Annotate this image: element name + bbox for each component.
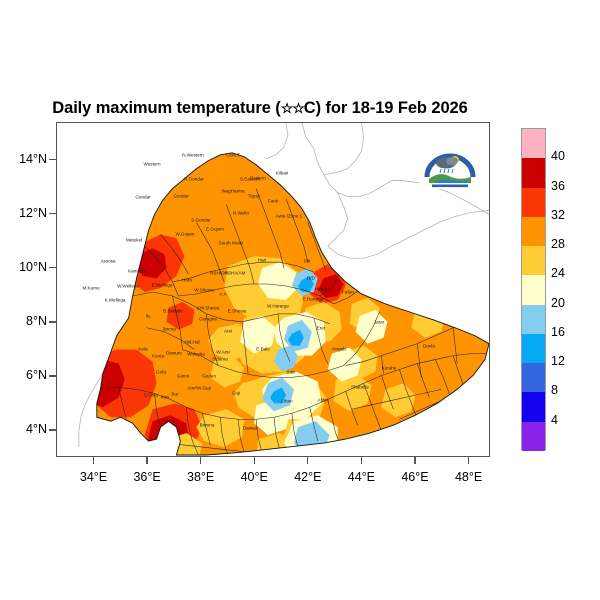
- title-prefix: Daily maximum temperature (: [52, 99, 280, 117]
- colorbar-band: [522, 334, 545, 363]
- colorbar-tick-label: 16: [551, 325, 565, 339]
- colorbar-band: [522, 217, 545, 246]
- y-tick-mark: [49, 267, 56, 268]
- temperature-map-figure: Daily maximum temperature (☆☆C) for 18-1…: [0, 0, 600, 600]
- x-tick-label: 48°E: [439, 470, 499, 484]
- colorbar-band: [522, 129, 545, 158]
- degree-glyph: ☆☆: [281, 100, 304, 116]
- x-tick-label: 44°E: [331, 470, 391, 484]
- y-tick-label: 12°N: [19, 206, 47, 220]
- colorbar-band: [522, 422, 545, 451]
- colorbar-tick-label: 32: [551, 208, 565, 222]
- colorbar-tick-label: 20: [551, 296, 565, 310]
- x-tick-mark: [361, 457, 362, 464]
- y-tick-label: 6°N: [26, 368, 47, 382]
- colorbar-band: [522, 305, 545, 334]
- y-tick-label: 4°N: [26, 422, 47, 436]
- x-tick-label: 38°E: [171, 470, 231, 484]
- colorbar-band: [522, 158, 545, 187]
- colorbar[interactable]: [521, 128, 546, 450]
- colorbar-tick-label: 36: [551, 179, 565, 193]
- x-tick-label: 42°E: [278, 470, 338, 484]
- x-tick-label: 36°E: [117, 470, 177, 484]
- y-tick-mark: [49, 321, 56, 322]
- x-tick-mark: [414, 457, 415, 464]
- x-tick-mark: [254, 457, 255, 464]
- colorbar-band: [522, 275, 545, 304]
- page-title: Daily maximum temperature (☆☆C) for 18-1…: [0, 99, 520, 118]
- x-tick-label: 34°E: [64, 470, 124, 484]
- y-tick-mark: [49, 375, 56, 376]
- x-tick-label: 46°E: [385, 470, 445, 484]
- colorbar-tick-label: 4: [551, 413, 558, 427]
- title-suffix: C) for 18-19 Feb 2026: [304, 99, 468, 117]
- colorbar-band: [522, 188, 545, 217]
- x-tick-mark: [93, 457, 94, 464]
- x-tick-label: 40°E: [224, 470, 284, 484]
- y-tick-mark: [49, 429, 56, 430]
- x-tick-mark: [468, 457, 469, 464]
- y-tick-label: 8°N: [26, 314, 47, 328]
- x-tick-mark: [200, 457, 201, 464]
- colorbar-band: [522, 392, 545, 421]
- colorbar-band: [522, 363, 545, 392]
- y-tick-mark: [49, 159, 56, 160]
- x-tick-mark: [307, 457, 308, 464]
- y-tick-label: 10°N: [19, 260, 47, 274]
- colorbar-tick-label: 40: [551, 149, 565, 163]
- x-tick-mark: [146, 457, 147, 464]
- y-tick-mark: [49, 213, 56, 214]
- colorbar-tick-label: 8: [551, 383, 558, 397]
- colorbar-tick-label: 24: [551, 266, 565, 280]
- emi-logo: [419, 143, 481, 189]
- colorbar-band: [522, 246, 545, 275]
- y-tick-label: 14°N: [19, 152, 47, 166]
- colorbar-tick-label: 28: [551, 237, 565, 251]
- colorbar-tick-label: 12: [551, 354, 565, 368]
